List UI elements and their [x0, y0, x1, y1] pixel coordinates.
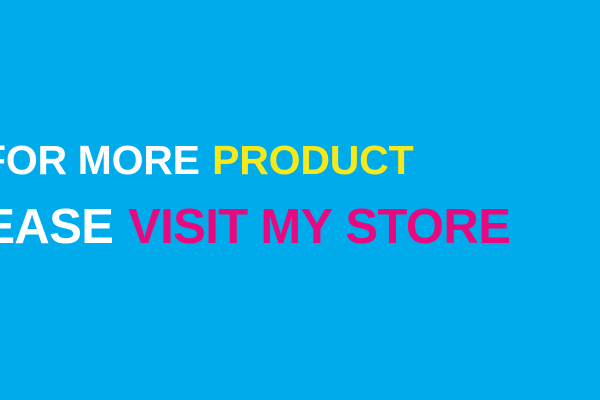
banner-text-block: FORMOREPRODUCT LEASEVISITMYSTORE [0, 0, 600, 400]
banner-headline-line-1: FORMOREPRODUCT [0, 140, 413, 181]
headline-word-please: LEASE [0, 200, 113, 254]
promo-banner: FORMOREPRODUCT LEASEVISITMYSTORE [0, 0, 600, 400]
banner-headline-line-2: LEASEVISITMYSTORE [0, 203, 510, 252]
headline-word-visit: VISIT [128, 200, 248, 254]
headline-word-my: MY [260, 200, 332, 254]
headline-word-store: STORE [345, 200, 510, 254]
headline-word-product: PRODUCT [212, 137, 413, 183]
headline-word-more: MORE [78, 137, 200, 183]
headline-word-for: FOR [0, 137, 67, 183]
